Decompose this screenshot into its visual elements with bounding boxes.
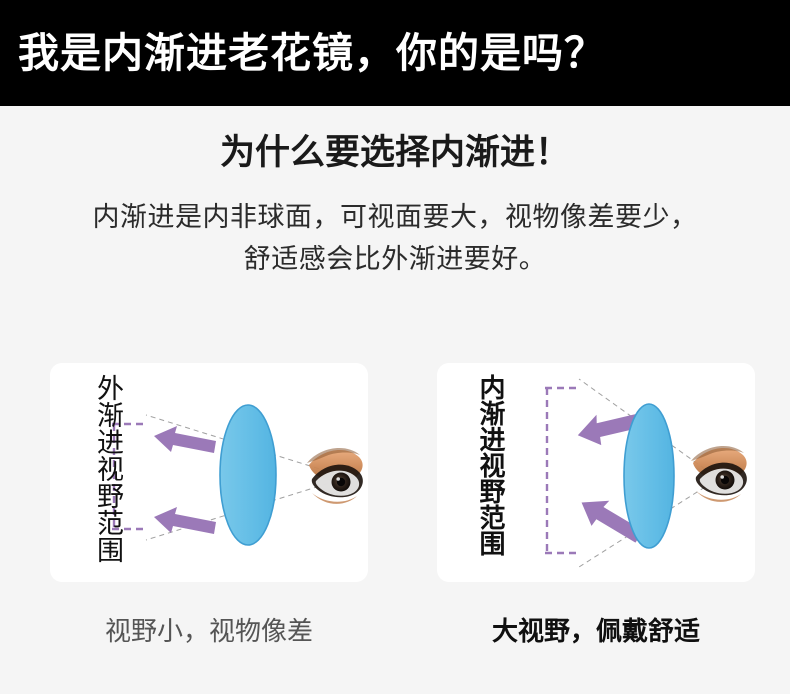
intro-paragraph-line-1: 内渐进是内非球面，可视面要大，视物像差要少， <box>0 197 790 239</box>
eye-illustration-inner <box>691 446 747 502</box>
header-title: 我是内渐进老花镜，你的是吗？ <box>18 33 606 74</box>
lens-ellipse-outer <box>220 405 276 545</box>
caption-inner-progressive: 大视野，佩戴舒适 <box>437 616 755 647</box>
direction-arrow-upper-outer <box>154 426 216 453</box>
diagram-card-inner-progressive: 内渐进视野范围 <box>437 363 755 582</box>
caption-row: 视野小，视物像差 大视野，佩戴舒适 <box>0 594 790 694</box>
diagram-row: 外渐进视野范围 <box>0 338 790 594</box>
field-of-view-bracket-inner <box>545 388 581 553</box>
intro-paragraph: 内渐进是内非球面，可视面要大，视物像差要少， 舒适感会比外渐进要好。 <box>0 197 790 281</box>
direction-arrow-lower-outer <box>154 507 216 534</box>
diagram-card-outer-progressive: 外渐进视野范围 <box>50 363 368 582</box>
diagram-label-outer-progressive: 外渐进视野范围 <box>87 374 121 563</box>
intro-paragraph-line-2: 舒适感会比外渐进要好。 <box>0 239 790 281</box>
diagram-label-inner-progressive: 内渐进视野范围 <box>470 374 504 556</box>
header-banner: 我是内渐进老花镜，你的是吗？ <box>0 0 790 106</box>
lens-ellipse-inner <box>624 404 674 548</box>
intro-section: 为什么要选择内渐进！ 内渐进是内非球面，可视面要大，视物像差要少， 舒适感会比外… <box>0 106 790 338</box>
eye-illustration-outer <box>307 448 363 504</box>
section-heading: 为什么要选择内渐进！ <box>0 133 790 173</box>
caption-outer-progressive: 视野小，视物像差 <box>50 616 368 647</box>
